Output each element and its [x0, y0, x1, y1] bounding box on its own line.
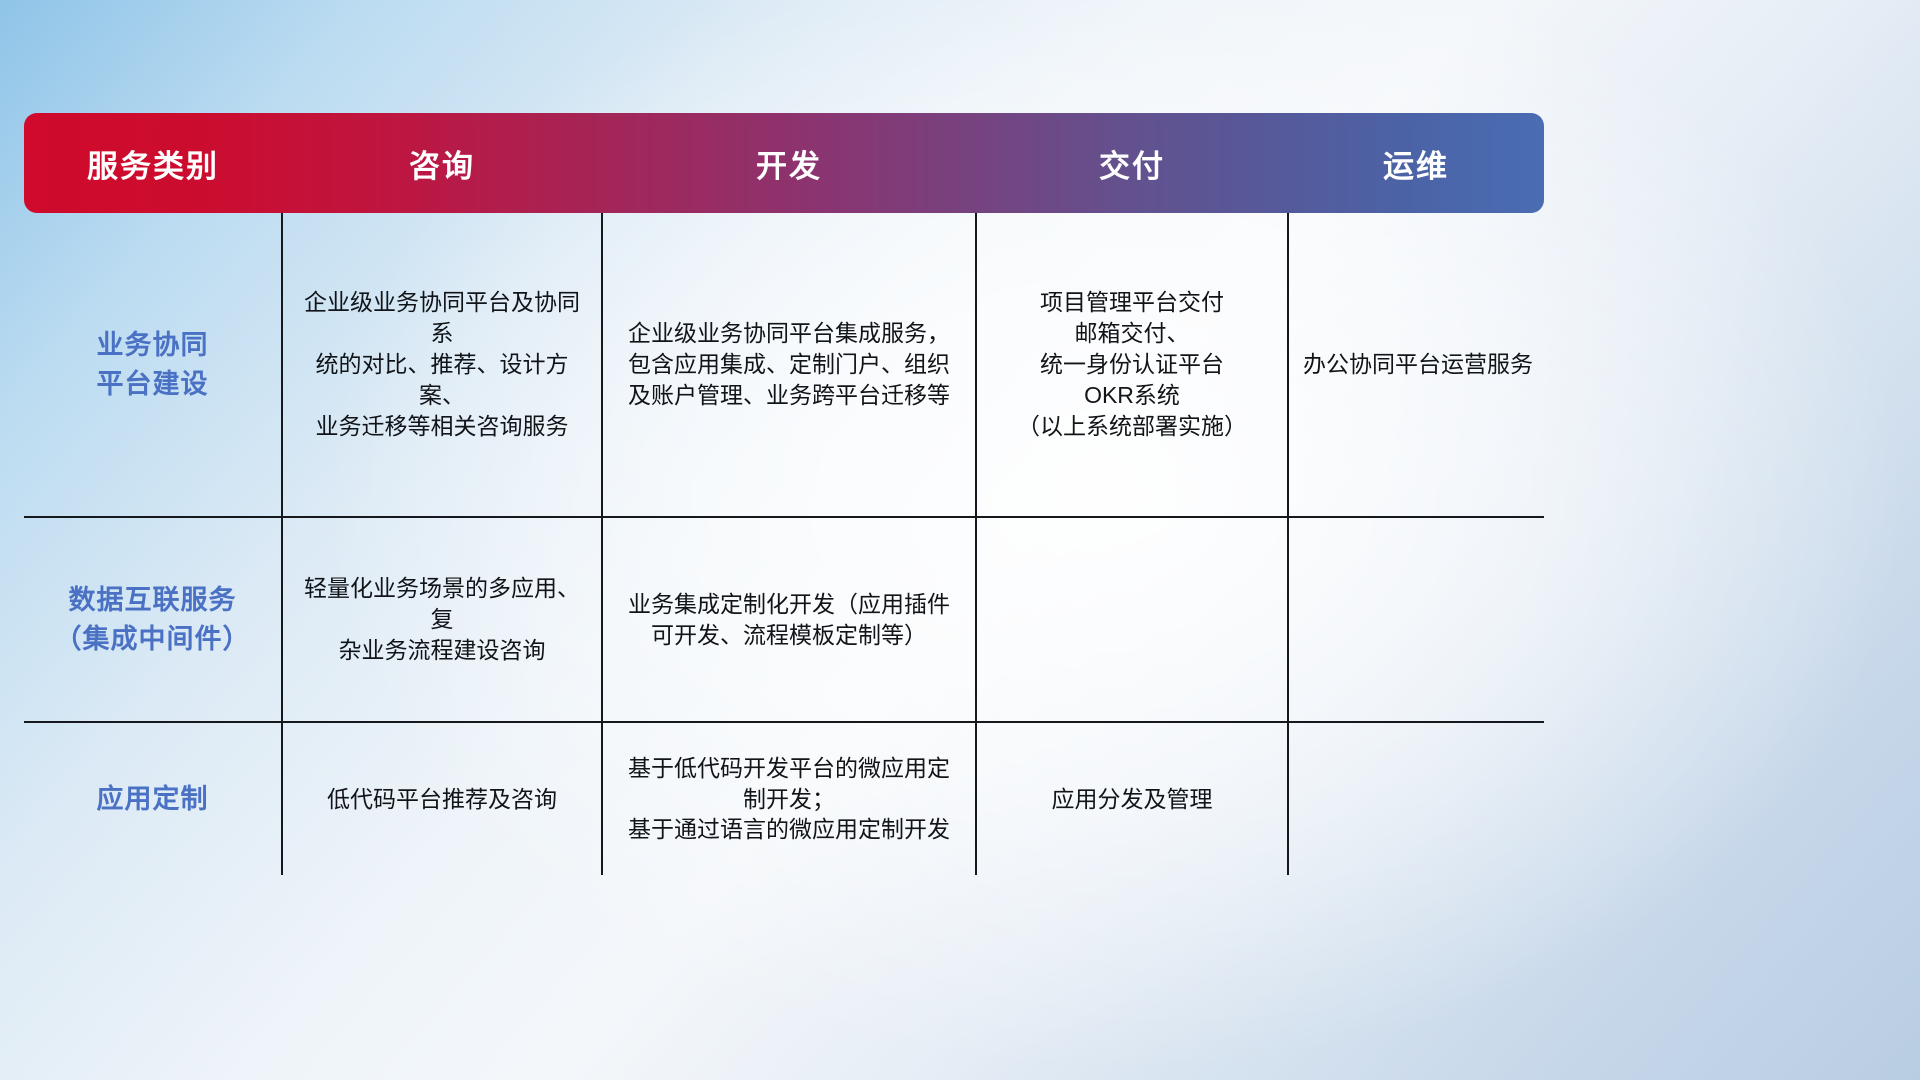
cell-line: 企业级业务协同平台集成服务，: [617, 318, 961, 349]
table-row: 业务协同 平台建设 企业级业务协同平台及协同系 统的对比、推荐、设计方案、 业务…: [24, 213, 1544, 517]
cell-consulting: 轻量化业务场景的多应用、复 杂业务流程建设咨询: [282, 517, 602, 722]
cell-line: 项目管理平台交付: [991, 287, 1273, 318]
column-header-category-label: 服务类别: [24, 141, 282, 186]
cell-line: 基于通过语言的微应用定制开发: [617, 814, 961, 845]
column-header-operations-label: 运维: [1288, 141, 1544, 186]
cell-text: 低代码平台推荐及咨询: [297, 784, 587, 815]
table-header-row: 服务类别 咨询 开发 交付 运维: [24, 113, 1544, 213]
cell-consulting: 企业级业务协同平台及协同系 统的对比、推荐、设计方案、 业务迁移等相关咨询服务: [282, 213, 602, 517]
cell-consulting: 低代码平台推荐及咨询: [282, 722, 602, 875]
cell-text: 办公协同平台运营服务: [1303, 349, 1530, 380]
cell-line: 杂业务流程建设咨询: [297, 635, 587, 666]
table-header: 服务类别 咨询 开发 交付 运维: [24, 113, 1544, 213]
row-label-cell: 数据互联服务 （集成中间件）: [24, 517, 282, 722]
cell-line: 制开发；: [617, 784, 961, 815]
cell-development: 业务集成定制化开发（应用插件 可开发、流程模板定制等）: [602, 517, 976, 722]
cell-delivery: 项目管理平台交付 邮箱交付、 统一身份认证平台 OKR系统 （以上系统部署实施）: [976, 213, 1288, 517]
row-label-text: 应用定制: [38, 780, 267, 818]
column-header-operations[interactable]: 运维: [1288, 113, 1544, 213]
row-label-text: 业务协同 平台建设: [38, 326, 267, 403]
cell-text: 轻量化业务场景的多应用、复 杂业务流程建设咨询: [297, 573, 587, 665]
column-header-delivery-label: 交付: [976, 141, 1288, 186]
cell-line: 基于低代码开发平台的微应用定: [617, 753, 961, 784]
column-header-development[interactable]: 开发: [602, 113, 976, 213]
cell-line: 轻量化业务场景的多应用、复: [297, 573, 587, 635]
table-row: 数据互联服务 （集成中间件） 轻量化业务场景的多应用、复 杂业务流程建设咨询 业…: [24, 517, 1544, 722]
cell-operations: 办公协同平台运营服务: [1288, 213, 1544, 517]
cell-operations: [1288, 517, 1544, 722]
cell-line: 统一身份认证平台: [991, 349, 1273, 380]
service-matrix-table: 服务类别 咨询 开发 交付 运维: [24, 113, 1544, 775]
cell-line: （以上系统部署实施）: [991, 411, 1273, 442]
cell-line: 业务迁移等相关咨询服务: [297, 411, 587, 442]
column-header-consulting[interactable]: 咨询: [282, 113, 602, 213]
cell-line: 统的对比、推荐、设计方案、: [297, 349, 587, 411]
cell-line: 包含应用集成、定制门户、组织: [617, 349, 961, 380]
row-label-cell: 业务协同 平台建设: [24, 213, 282, 517]
cell-line: 企业级业务协同平台及协同系: [297, 287, 587, 349]
cell-line: 低代码平台推荐及咨询: [297, 784, 587, 815]
row-label-text: 数据互联服务 （集成中间件）: [38, 581, 267, 658]
row-label-cell: 应用定制: [24, 722, 282, 875]
cell-text: 应用分发及管理: [991, 784, 1273, 815]
row-label-line: （集成中间件）: [38, 620, 267, 658]
cell-line: 办公协同平台运营服务: [1303, 349, 1530, 380]
column-header-delivery[interactable]: 交付: [976, 113, 1288, 213]
cell-line: 邮箱交付、: [991, 318, 1273, 349]
column-header-category[interactable]: 服务类别: [24, 113, 282, 213]
row-label-line: 业务协同: [38, 326, 267, 364]
cell-text: 业务集成定制化开发（应用插件 可开发、流程模板定制等）: [617, 589, 961, 651]
cell-line: 及账户管理、业务跨平台迁移等: [617, 380, 961, 411]
cell-line: 业务集成定制化开发（应用插件: [617, 589, 961, 620]
table-row: 应用定制 低代码平台推荐及咨询 基于低代码开发平台的微应用定 制开发； 基于通过…: [24, 722, 1544, 875]
cell-text: 企业级业务协同平台及协同系 统的对比、推荐、设计方案、 业务迁移等相关咨询服务: [297, 287, 587, 441]
table-body: 业务协同 平台建设 企业级业务协同平台及协同系 统的对比、推荐、设计方案、 业务…: [24, 213, 1544, 875]
row-label-line: 应用定制: [38, 780, 267, 818]
cell-delivery: [976, 517, 1288, 722]
cell-operations: [1288, 722, 1544, 875]
row-label-line: 数据互联服务: [38, 581, 267, 619]
cell-text: 项目管理平台交付 邮箱交付、 统一身份认证平台 OKR系统 （以上系统部署实施）: [991, 287, 1273, 441]
cell-line: OKR系统: [991, 380, 1273, 411]
cell-delivery: 应用分发及管理: [976, 722, 1288, 875]
column-header-development-label: 开发: [602, 141, 976, 186]
cell-line: 应用分发及管理: [991, 784, 1273, 815]
slide-canvas: 服务类别 咨询 开发 交付 运维: [0, 0, 1920, 1080]
cell-development: 企业级业务协同平台集成服务， 包含应用集成、定制门户、组织 及账户管理、业务跨平…: [602, 213, 976, 517]
cell-text: 基于低代码开发平台的微应用定 制开发； 基于通过语言的微应用定制开发: [617, 753, 961, 845]
service-table: 服务类别 咨询 开发 交付 运维: [24, 113, 1544, 875]
cell-line: 可开发、流程模板定制等）: [617, 620, 961, 651]
column-header-consulting-label: 咨询: [282, 141, 602, 186]
cell-text: 企业级业务协同平台集成服务， 包含应用集成、定制门户、组织 及账户管理、业务跨平…: [617, 318, 961, 410]
cell-development: 基于低代码开发平台的微应用定 制开发； 基于通过语言的微应用定制开发: [602, 722, 976, 875]
row-label-line: 平台建设: [38, 365, 267, 403]
